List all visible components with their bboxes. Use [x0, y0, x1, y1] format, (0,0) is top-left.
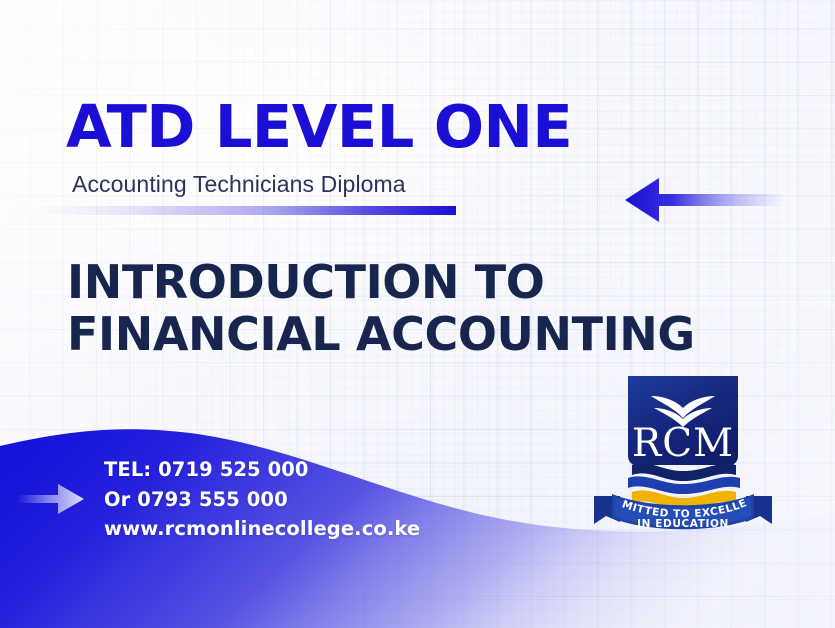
- contact-block: TEL: 0719 525 000 Or 0793 555 000 www.rc…: [104, 455, 420, 544]
- arrow-left-icon: [625, 172, 785, 228]
- page-title: INTRODUCTION TO FINANCIAL ACCOUNTING: [67, 256, 695, 361]
- contact-website[interactable]: www.rcmonlinecollege.co.ke: [104, 514, 420, 544]
- contact-tel-secondary[interactable]: Or 0793 555 000: [104, 485, 420, 515]
- headline-line-2: FINANCIAL ACCOUNTING: [67, 308, 695, 360]
- ribbon-line-2: IN EDUCATION: [637, 518, 729, 530]
- arrow-right-icon: [18, 482, 84, 516]
- poster-canvas: ATD LEVEL ONE Accounting Technicians Dip…: [0, 0, 835, 628]
- gradient-divider: [36, 206, 456, 215]
- eyebrow-subtitle: Accounting Technicians Diploma: [72, 171, 706, 198]
- headline-line-1: INTRODUCTION TO: [67, 255, 544, 309]
- rcm-logo: RCM COMMITTED TO EXCELLENCE IN EDUCATION: [588, 372, 778, 537]
- eyebrow-block: ATD LEVEL ONE Accounting Technicians Dip…: [66, 97, 706, 198]
- contact-tel-primary[interactable]: TEL: 0719 525 000: [104, 455, 420, 485]
- eyebrow-title: ATD LEVEL ONE: [66, 97, 706, 156]
- svg-text:RCM: RCM: [632, 421, 734, 466]
